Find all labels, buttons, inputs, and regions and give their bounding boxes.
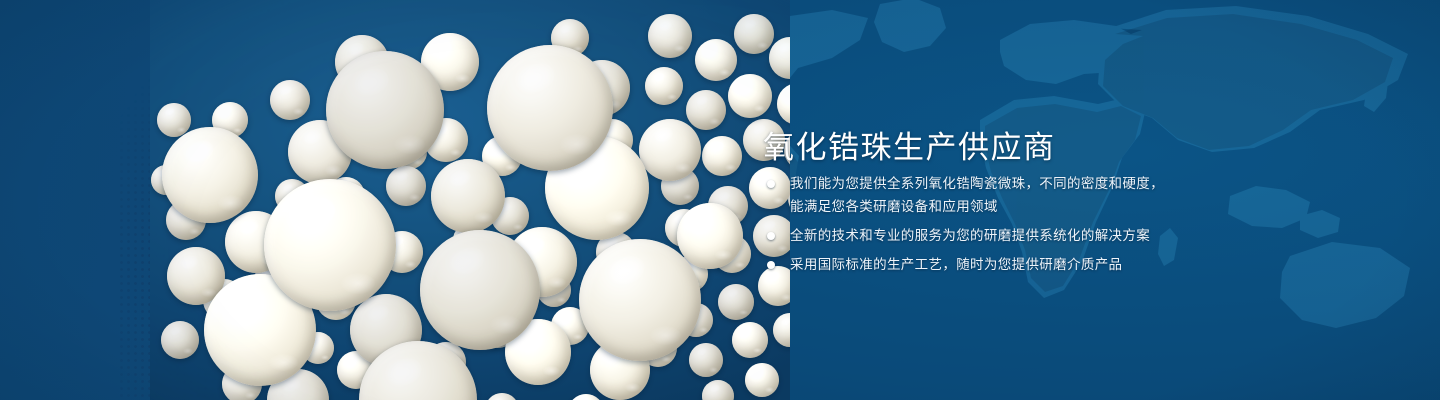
ceramic-bead — [568, 394, 604, 400]
ceramic-bead — [326, 51, 444, 169]
bullet-dot-icon — [767, 180, 775, 188]
list-item: 全新的技术和专业的服务为您的研磨提供系统化的解决方案 — [762, 224, 1164, 247]
ceramic-bead — [487, 45, 613, 171]
ceramic-bead — [161, 321, 199, 359]
ceramic-bead — [420, 230, 540, 350]
list-item-line: 全新的技术和专业的服务为您的研磨提供系统化的解决方案 — [790, 224, 1164, 247]
ceramic-bead — [677, 203, 743, 269]
page-title: 氧化锆珠生产供应商 — [763, 129, 1056, 166]
ceramic-bead — [579, 239, 701, 361]
ceramic-bead — [702, 136, 742, 176]
list-item-line: 能满足您各类研磨设备和应用领域 — [790, 195, 1164, 218]
bullet-dot-icon — [767, 261, 775, 269]
ceramic-bead — [689, 343, 723, 377]
feature-list: 我们能为您提供全系列氧化锆陶瓷微珠，不同的密度和硬度，能满足您各类研磨设备和应用… — [762, 172, 1164, 282]
ceramic-bead — [695, 39, 737, 81]
list-item: 采用国际标准的生产工艺，随时为您提供研磨介质产品 — [762, 253, 1164, 276]
ceramic-bead — [270, 80, 310, 120]
ceramic-bead — [645, 67, 683, 105]
bead-cluster — [150, 0, 790, 400]
ceramic-bead — [702, 380, 734, 400]
ceramic-bead — [639, 119, 701, 181]
ceramic-bead — [686, 90, 726, 130]
list-item-line: 采用国际标准的生产工艺，随时为您提供研磨介质产品 — [790, 253, 1164, 276]
ceramic-bead — [431, 159, 505, 233]
banner-content: 氧化锆珠生产供应商 我们能为您提供全系列氧化锆陶瓷微珠，不同的密度和硬度，能满足… — [762, 0, 1282, 400]
hero-banner: 氧化锆珠生产供应商 我们能为您提供全系列氧化锆陶瓷微珠，不同的密度和硬度，能满足… — [0, 0, 1440, 400]
bullet-dot-icon — [767, 232, 775, 240]
zirconia-beads-photo — [150, 0, 790, 400]
list-item-line: 我们能为您提供全系列氧化锆陶瓷微珠，不同的密度和硬度， — [790, 172, 1164, 195]
ceramic-bead — [162, 127, 258, 223]
ceramic-bead — [485, 393, 519, 400]
ceramic-bead — [648, 14, 692, 58]
ceramic-bead — [157, 103, 191, 137]
list-item: 我们能为您提供全系列氧化锆陶瓷微珠，不同的密度和硬度，能满足您各类研磨设备和应用… — [762, 172, 1164, 218]
ceramic-bead — [718, 284, 754, 320]
ceramic-bead — [386, 166, 426, 206]
ceramic-bead — [264, 179, 396, 311]
